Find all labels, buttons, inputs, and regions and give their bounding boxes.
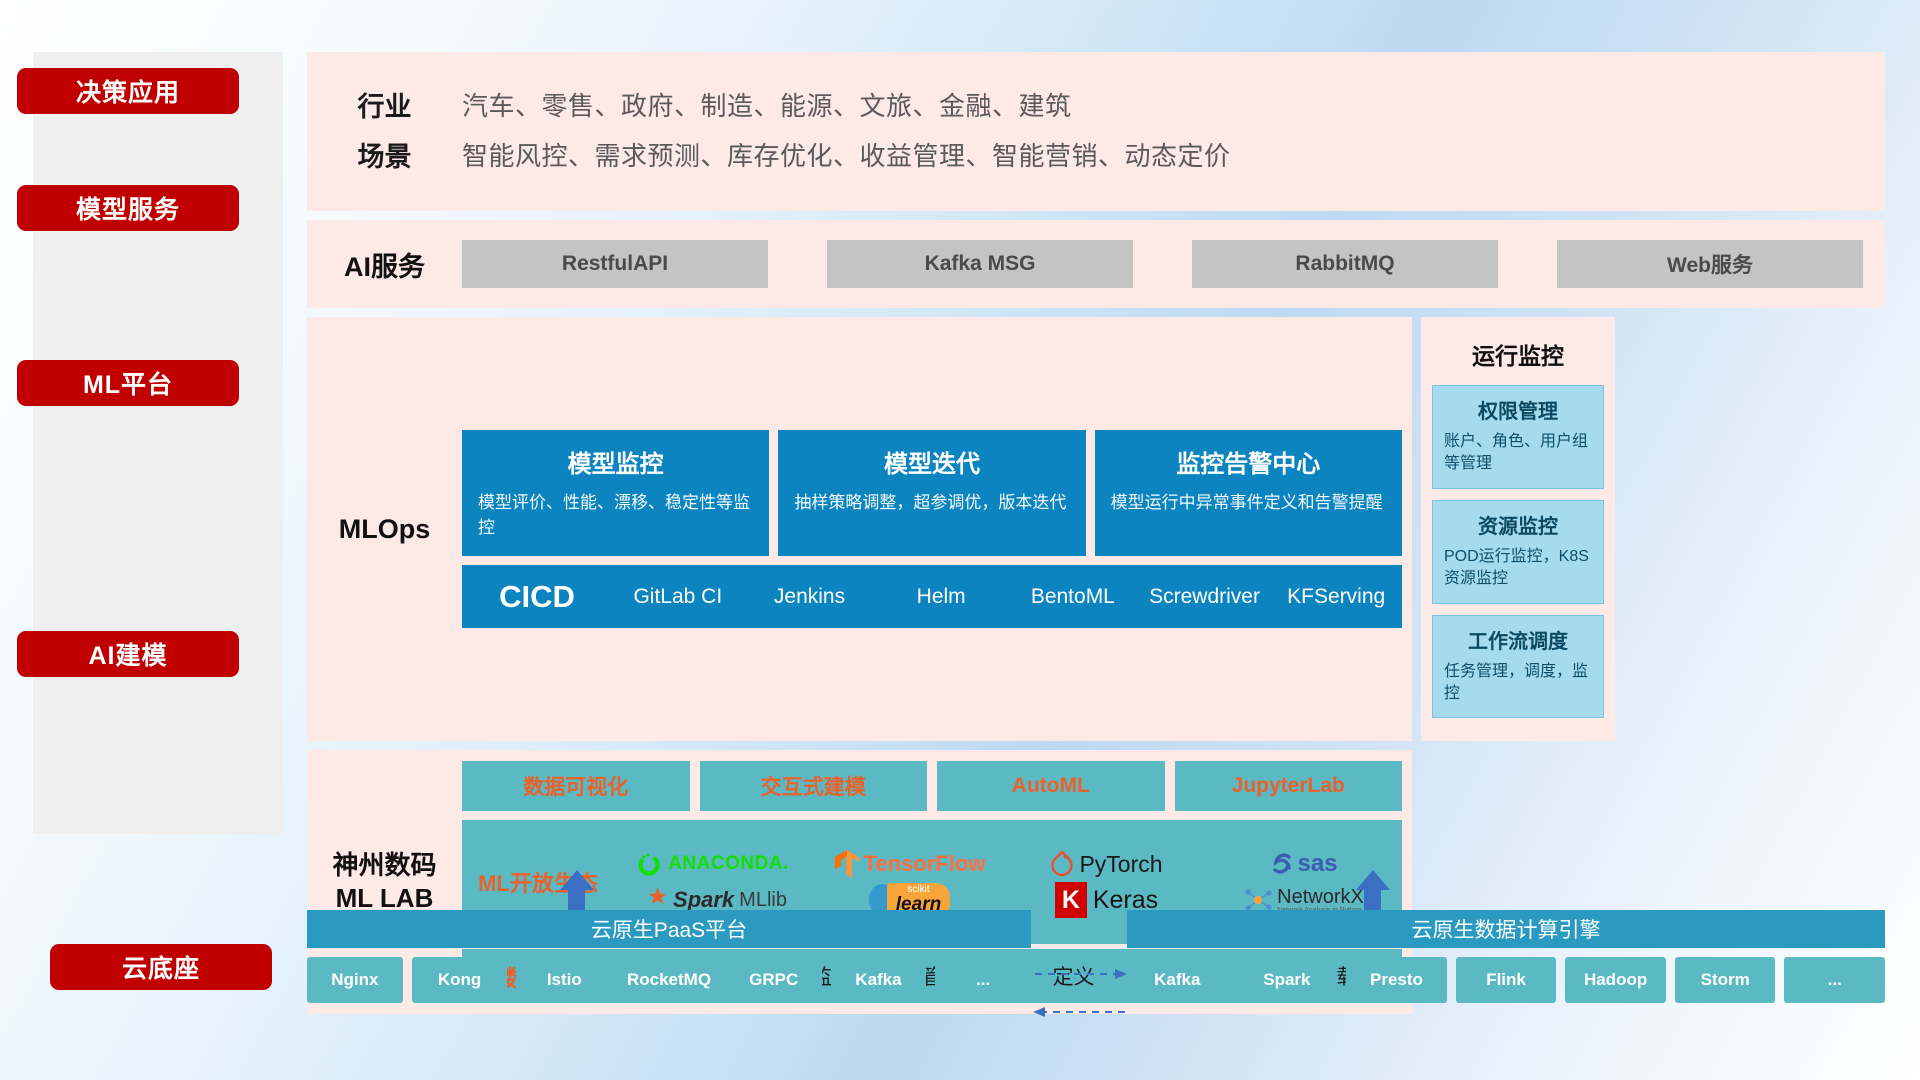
arrow-up-engine-icon — [1356, 870, 1390, 890]
monitor-card-permission[interactable]: 权限管理 账户、角色、用户组等管理 — [1432, 385, 1604, 489]
mlops-band: MLOps 模型监控 模型评价、性能、漂移、稳定性等监控 模型迭代 抽样策略调整… — [307, 317, 1412, 741]
card-title: 权限管理 — [1444, 395, 1592, 424]
card-desc: 抽样策略调整，超参调优，版本迭代 — [794, 491, 1069, 516]
card-desc: POD运行监控，K8S资源监控 — [1444, 546, 1592, 591]
monitor-card-resource[interactable]: 资源监控 POD运行监控，K8S资源监控 — [1432, 500, 1604, 604]
cloud-chip-rocketmq[interactable]: RocketMQ — [621, 957, 717, 1003]
industry-label: 行业 — [307, 85, 462, 124]
arrow-stem-paas — [568, 890, 585, 910]
card-title: 工作流调度 — [1444, 625, 1592, 654]
engine-chip-spark[interactable]: Spark — [1237, 957, 1338, 1003]
card-title: 模型迭代 — [794, 444, 1069, 479]
rail-item-ml-platform[interactable]: ML平台 — [17, 360, 239, 406]
industry-values: 汽车、零售、政府、制造、能源、文旅、金融、建筑 — [462, 86, 1072, 123]
cloud-chip-more[interactable]: ... — [935, 957, 1031, 1003]
rail-item-ai-modeling[interactable]: AI建模 — [17, 631, 239, 677]
rail-item-model-service[interactable]: 模型服务 — [17, 185, 239, 231]
arrow-stem-engine — [1364, 890, 1381, 910]
rail-item-label: 决策应用 — [76, 73, 180, 109]
rail-item-cloud-foundation[interactable]: 云底座 — [50, 944, 272, 990]
runtime-monitor-title: 运行监控 — [1432, 337, 1604, 371]
cicd-title: CICD — [462, 579, 612, 615]
mlops-card-model-monitoring[interactable]: 模型监控 模型评价、性能、漂移、稳定性等监控 — [462, 430, 769, 556]
cicd-item-jenkins[interactable]: Jenkins — [744, 585, 876, 608]
cloud-engine-header: 云原生数据计算引擎 — [1127, 910, 1885, 948]
engine-chip-storm[interactable]: Storm — [1675, 957, 1776, 1003]
card-title: 资源监控 — [1444, 510, 1592, 539]
cicd-item-kfserving[interactable]: KFServing — [1270, 585, 1402, 608]
runtime-monitor-panel: 运行监控 权限管理 账户、角色、用户组等管理 资源监控 POD运行监控，K8S资… — [1421, 317, 1615, 741]
scenario-values: 智能风控、需求预测、库存优化、收益管理、智能营销、动态定价 — [462, 136, 1231, 173]
ai-service-chip-group: RestfulAPI Kafka MSG RabbitMQ Web服务 — [462, 240, 1885, 288]
tool-chip-automl[interactable]: AutoML — [937, 761, 1165, 811]
cicd-bar: CICD GitLab CI Jenkins Helm BentoML Scre… — [462, 565, 1402, 628]
mlops-label: MLOps — [307, 514, 462, 545]
left-rail-panel — [33, 52, 283, 834]
cloud-paas-chip-group: Nginx Kong Istio RocketMQ GRPC Kafka ... — [307, 957, 1031, 1003]
cloud-foundation-zone: 云原生PaaS平台 Nginx Kong Istio RocketMQ GRPC… — [307, 866, 1885, 1003]
ml-lab-tool-group: 数据可视化 交互式建模 AutoML JupyterLab — [462, 761, 1402, 811]
ai-service-chip-kafka-msg[interactable]: Kafka MSG — [827, 240, 1133, 288]
card-title: 监控告警中心 — [1111, 444, 1386, 479]
rail-item-label: AI建模 — [88, 636, 167, 672]
ai-service-chip-restfulapi[interactable]: RestfulAPI — [462, 240, 768, 288]
rail-item-label: 模型服务 — [76, 190, 180, 226]
tool-chip-data-visualization[interactable]: 数据可视化 — [462, 761, 690, 811]
ai-service-band: AI服务 RestfulAPI Kafka MSG RabbitMQ Web服务 — [307, 220, 1885, 308]
arrow-up-paas-icon — [560, 870, 594, 890]
engine-chip-presto[interactable]: Presto — [1346, 957, 1447, 1003]
cicd-item-bentoml[interactable]: BentoML — [1007, 585, 1139, 608]
ai-service-label: AI服务 — [307, 245, 462, 284]
cicd-item-helm[interactable]: Helm — [875, 585, 1007, 608]
cicd-item-gitlab-ci[interactable]: GitLab CI — [612, 585, 744, 608]
dashed-connector-group — [1031, 960, 1129, 1030]
engine-chip-hadoop[interactable]: Hadoop — [1565, 957, 1666, 1003]
tool-chip-jupyterlab[interactable]: JupyterLab — [1175, 761, 1403, 811]
cloud-engine-column: 云原生数据计算引擎 Kafka Spark Presto Flink Hadoo… — [1127, 910, 1885, 1003]
scenario-row: 场景 智能风控、需求预测、库存优化、收益管理、智能营销、动态定价 — [307, 135, 1885, 174]
card-desc: 模型评价、性能、漂移、稳定性等监控 — [478, 491, 753, 540]
scenario-label: 场景 — [307, 135, 462, 174]
mlops-card-group: 模型监控 模型评价、性能、漂移、稳定性等监控 模型迭代 抽样策略调整，超参调优，… — [462, 430, 1402, 556]
engine-chip-more[interactable]: ... — [1784, 957, 1885, 1003]
decision-apps-band: 行业 汽车、零售、政府、制造、能源、文旅、金融、建筑 场景 智能风控、需求预测、… — [307, 52, 1885, 211]
card-desc: 任务管理，调度，监控 — [1444, 661, 1592, 706]
engine-chip-flink[interactable]: Flink — [1456, 957, 1557, 1003]
cloud-chip-nginx[interactable]: Nginx — [307, 957, 403, 1003]
cloud-chip-kafka[interactable]: Kafka — [831, 957, 927, 1003]
cloud-chip-kong[interactable]: Kong — [412, 957, 508, 1003]
engine-chip-kafka[interactable]: Kafka — [1127, 957, 1228, 1003]
monitor-card-workflow[interactable]: 工作流调度 任务管理，调度，监控 — [1432, 615, 1604, 719]
card-desc: 账户、角色、用户组等管理 — [1444, 431, 1592, 476]
rail-item-label: ML平台 — [83, 365, 173, 401]
cloud-chip-istio[interactable]: Istio — [516, 957, 612, 1003]
mlops-card-alert-center[interactable]: 监控告警中心 模型运行中异常事件定义和告警提醒 — [1095, 430, 1402, 556]
tool-chip-interactive-modeling[interactable]: 交互式建模 — [700, 761, 928, 811]
cloud-paas-column: 云原生PaaS平台 Nginx Kong Istio RocketMQ GRPC… — [307, 910, 1031, 1003]
card-desc: 模型运行中异常事件定义和告警提醒 — [1111, 491, 1386, 516]
rail-item-label: 云底座 — [122, 949, 200, 985]
industry-row: 行业 汽车、零售、政府、制造、能源、文旅、金融、建筑 — [307, 85, 1885, 124]
mlops-row: MLOps 模型监控 模型评价、性能、漂移、稳定性等监控 模型迭代 抽样策略调整… — [307, 317, 1885, 741]
ai-service-chip-rabbitmq[interactable]: RabbitMQ — [1192, 240, 1498, 288]
cloud-engine-chip-group: Kafka Spark Presto Flink Hadoop Storm ..… — [1127, 957, 1885, 1003]
cloud-columns: 云原生PaaS平台 Nginx Kong Istio RocketMQ GRPC… — [307, 910, 1885, 1003]
mlops-card-model-iteration[interactable]: 模型迭代 抽样策略调整，超参调优，版本迭代 — [778, 430, 1085, 556]
cloud-paas-header: 云原生PaaS平台 — [307, 910, 1031, 948]
ai-service-chip-web[interactable]: Web服务 — [1557, 240, 1863, 288]
card-title: 模型监控 — [478, 444, 753, 479]
rail-item-decision-apps[interactable]: 决策应用 — [17, 68, 239, 114]
cicd-item-screwdriver[interactable]: Screwdriver — [1139, 585, 1271, 608]
mlops-content: 模型监控 模型评价、性能、漂移、稳定性等监控 模型迭代 抽样策略调整，超参调优，… — [462, 430, 1412, 628]
cloud-chip-grpc[interactable]: GRPC — [726, 957, 822, 1003]
